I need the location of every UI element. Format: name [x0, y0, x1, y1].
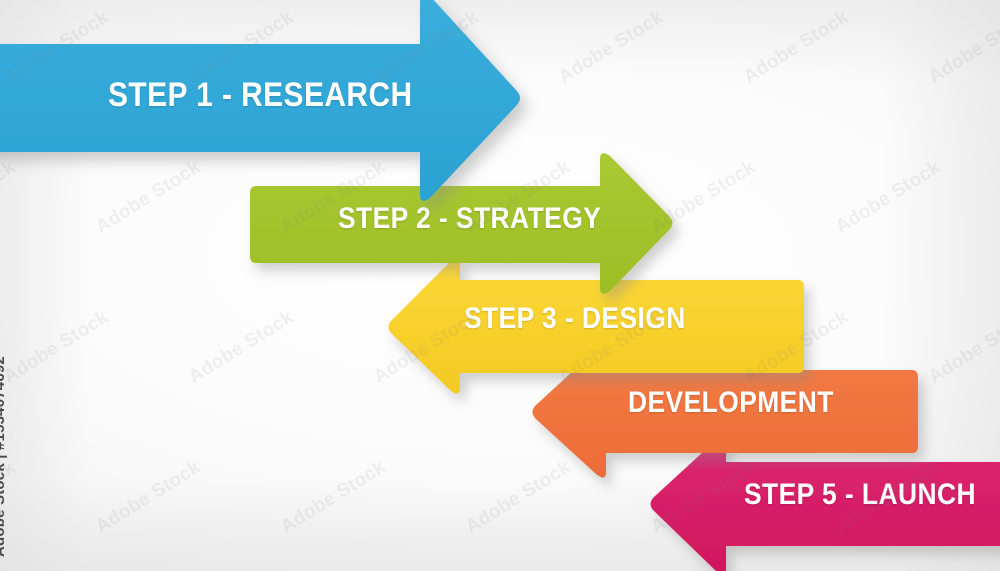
watermark-text: Adobe Stock: [832, 157, 945, 239]
stock-attribution-label: Adobe Stock | #1534074692: [0, 356, 8, 557]
watermark-text: Adobe Stock: [555, 7, 668, 89]
watermark-text: Adobe Stock: [277, 457, 390, 539]
process-arrow-step-1[interactable]: STEP 1 - RESEARCH: [0, 0, 560, 208]
arrow-label-step-1: STEP 1 - RESEARCH: [108, 76, 413, 115]
infographic-canvas: STEP 1 - RESEARCH STEP 2 - STRATEGY: [0, 0, 1000, 571]
watermark-text: Adobe Stock: [740, 7, 853, 89]
watermark-text: Adobe Stock: [0, 307, 113, 389]
watermark-text: Adobe Stock: [925, 7, 1000, 89]
watermark-text: Adobe Stock: [92, 457, 205, 539]
arrow-label-step-3: STEP 3 - DESIGN: [464, 302, 686, 336]
watermark-text: Adobe Stock: [185, 307, 298, 389]
